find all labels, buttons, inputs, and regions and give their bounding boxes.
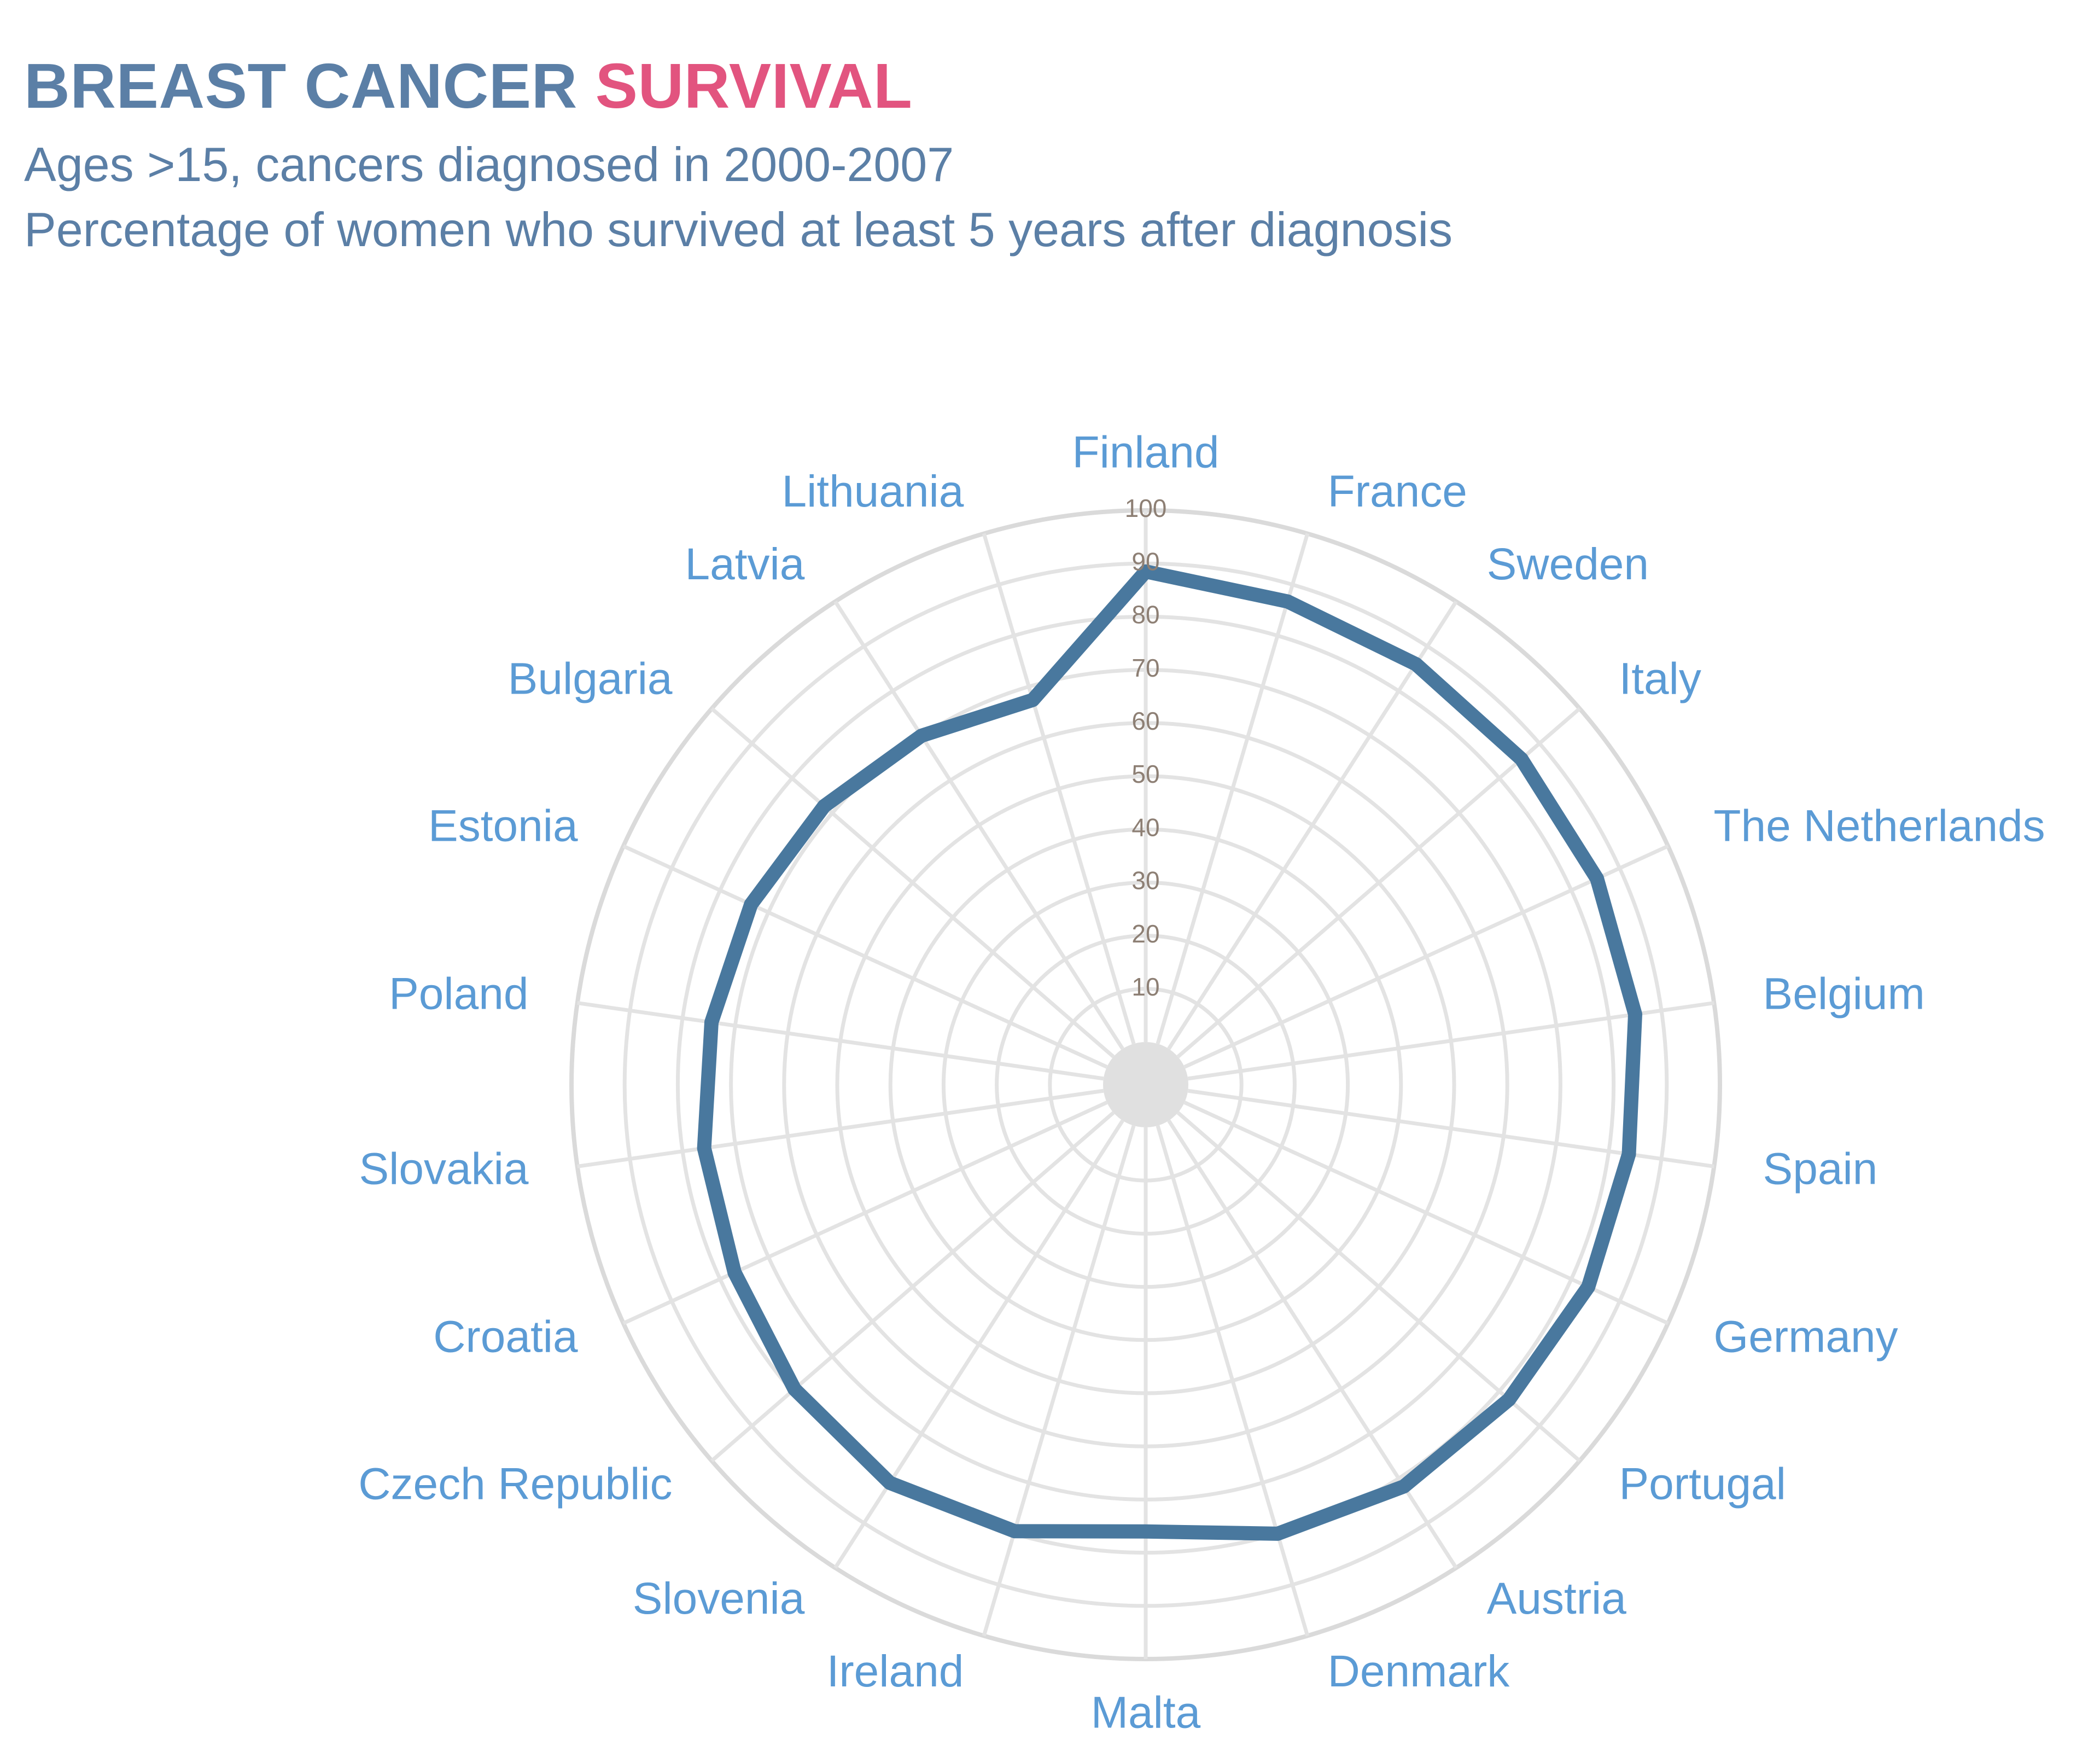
chart-header: BREAST CANCER SURVIVAL Ages >15, cancers… bbox=[24, 53, 2047, 260]
grid-spoke-austria bbox=[1169, 1121, 1456, 1568]
category-label-malta: Malta bbox=[1091, 1688, 1201, 1738]
category-label-lithuania: Lithuania bbox=[781, 467, 964, 516]
category-label-ireland: Ireland bbox=[827, 1646, 964, 1696]
grid-spoke-ireland bbox=[984, 1126, 1134, 1636]
category-label-bulgaria: Bulgaria bbox=[508, 654, 673, 704]
radial-tick-label-10: 10 bbox=[1131, 973, 1159, 1001]
radial-tick-label-90: 90 bbox=[1131, 547, 1159, 575]
grid-spoke-france bbox=[1158, 534, 1308, 1044]
radial-tick-label-60: 60 bbox=[1131, 707, 1159, 735]
category-label-estonia: Estonia bbox=[428, 801, 578, 851]
radar-center-hub bbox=[1103, 1042, 1188, 1127]
grid-spoke-slovenia bbox=[835, 1121, 1123, 1568]
radial-tick-label-50: 50 bbox=[1131, 760, 1159, 788]
subtitle-line-1: Ages >15, cancers diagnosed in 2000-2007 bbox=[24, 120, 2047, 196]
category-label-belgium: Belgium bbox=[1763, 969, 1925, 1019]
category-label-poland: Poland bbox=[389, 969, 528, 1019]
category-label-spain: Spain bbox=[1763, 1144, 1878, 1194]
radar-chart: 102030405060708090100 FinlandFranceSwede… bbox=[0, 383, 2100, 1740]
category-label-germany: Germany bbox=[1713, 1312, 1898, 1362]
grid-spoke-portugal bbox=[1178, 1113, 1580, 1461]
category-label-austria: Austria bbox=[1487, 1574, 1627, 1623]
category-label-latvia: Latvia bbox=[685, 539, 804, 589]
category-label-slovakia: Slovakia bbox=[359, 1144, 528, 1194]
category-label-finland: Finland bbox=[1072, 428, 1220, 478]
grid-spoke-slovakia bbox=[577, 1091, 1104, 1166]
grid-spoke-czech-republic bbox=[711, 1113, 1113, 1461]
radial-tick-label-40: 40 bbox=[1131, 813, 1159, 841]
category-label-portugal: Portugal bbox=[1619, 1459, 1786, 1509]
page-title-main: BREAST CANCER bbox=[24, 50, 577, 121]
radial-tick-label-70: 70 bbox=[1131, 654, 1159, 682]
category-label-czech-republic: Czech Republic bbox=[358, 1459, 672, 1509]
category-label-croatia: Croatia bbox=[433, 1312, 578, 1362]
category-label-france: France bbox=[1328, 467, 1467, 516]
page-title-accent: SURVIVAL bbox=[596, 50, 913, 121]
grid-spoke-denmark bbox=[1158, 1126, 1308, 1636]
subtitle-line-2: Percentage of women who survived at leas… bbox=[24, 196, 2047, 261]
category-label-the-netherlands: The Netherlands bbox=[1713, 801, 2045, 851]
page-root: BREAST CANCER SURVIVAL Ages >15, cancers… bbox=[0, 0, 2100, 1740]
radar-category-labels: FinlandFranceSwedenItalyThe NetherlandsB… bbox=[358, 428, 2045, 1738]
category-label-sweden: Sweden bbox=[1487, 539, 1649, 589]
radial-tick-label-30: 30 bbox=[1131, 866, 1159, 895]
grid-spoke-latvia bbox=[835, 602, 1123, 1049]
radar-chart-container: 102030405060708090100 FinlandFranceSwede… bbox=[0, 383, 2100, 1740]
radial-tick-label-80: 80 bbox=[1131, 601, 1159, 629]
radial-tick-label-100: 100 bbox=[1125, 494, 1167, 522]
radial-tick-label-20: 20 bbox=[1131, 920, 1159, 948]
category-label-denmark: Denmark bbox=[1328, 1646, 1510, 1696]
category-label-italy: Italy bbox=[1619, 654, 1701, 704]
category-label-slovenia: Slovenia bbox=[633, 1574, 805, 1623]
grid-spoke-poland bbox=[577, 1003, 1104, 1079]
page-title: BREAST CANCER SURVIVAL bbox=[24, 53, 2047, 120]
